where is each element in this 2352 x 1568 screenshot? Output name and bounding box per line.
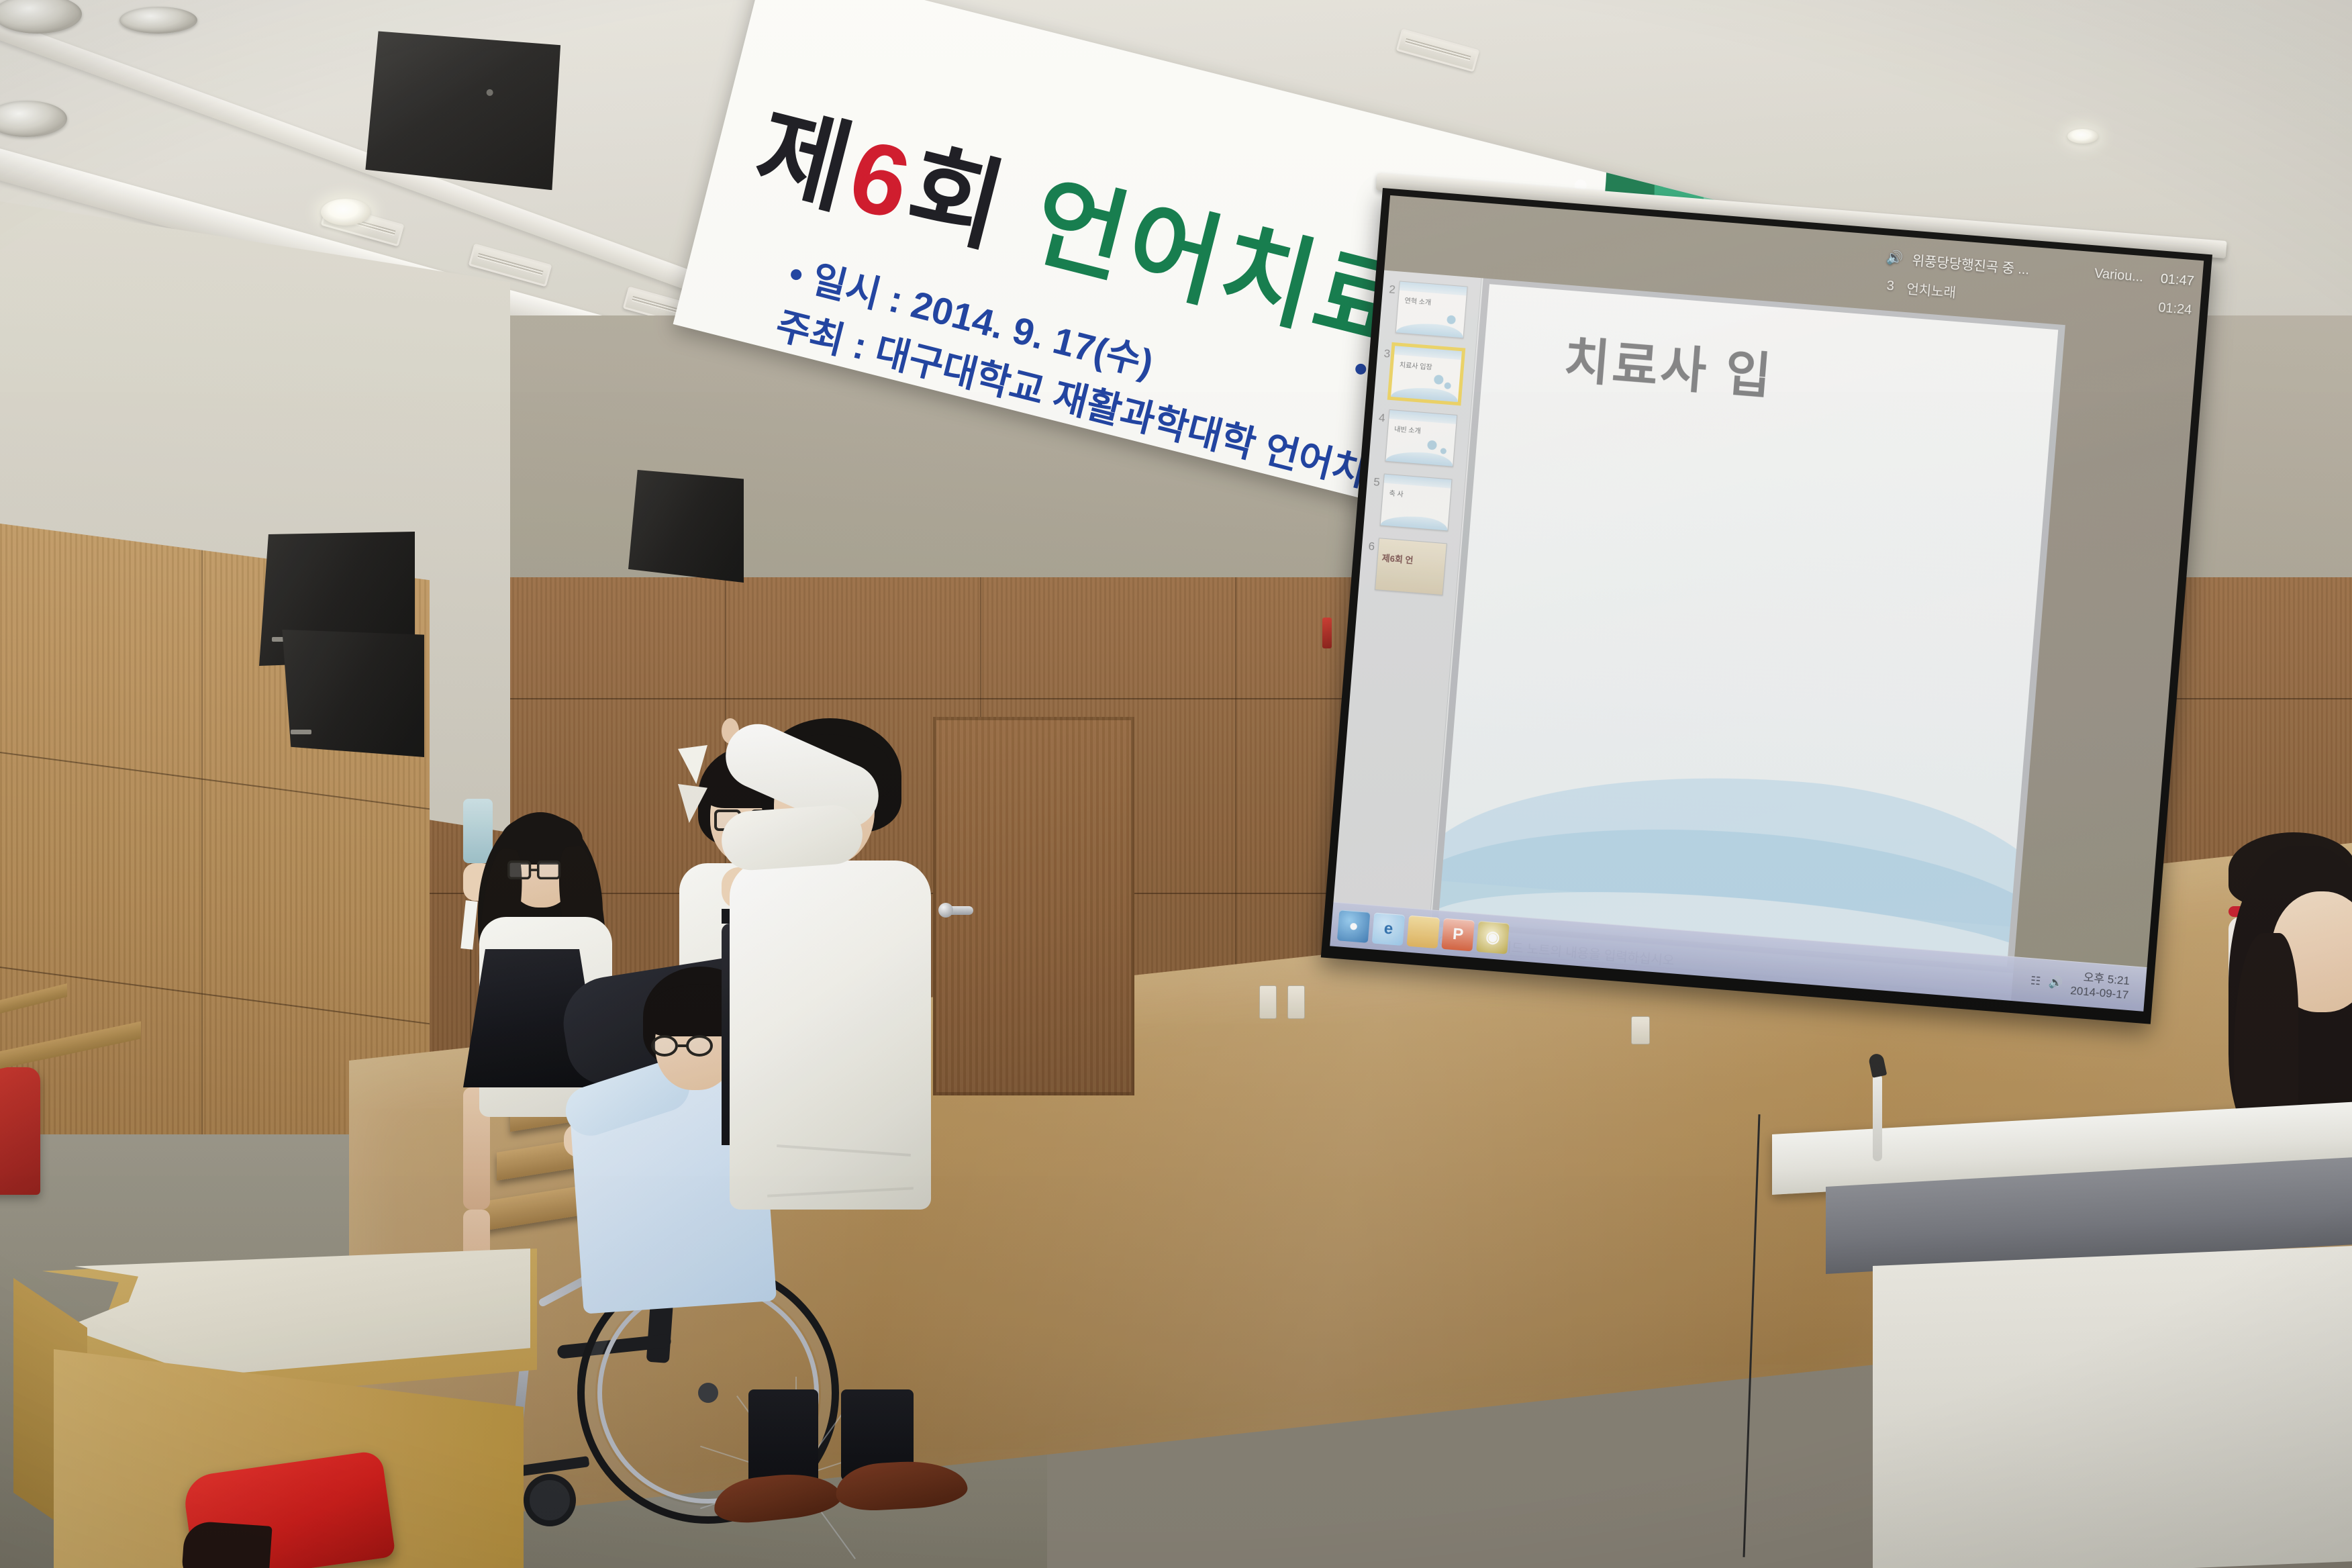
- player-elapsed: 01:24: [2150, 299, 2193, 318]
- person-man-pushing-wheelchair: [722, 718, 943, 1510]
- slide-thumbnail-item[interactable]: 6 제6회 언: [1363, 537, 1455, 596]
- slide-number: 6: [1365, 537, 1379, 554]
- volume-icon: 🔊: [1885, 249, 1904, 267]
- view-mode-icon[interactable]: [1948, 995, 1962, 1007]
- slide-thumb-title: 제6회 언: [1381, 551, 1414, 567]
- slide-title-text: 치료사 입: [1562, 320, 1777, 409]
- slide-number: 3: [1381, 344, 1394, 361]
- stage-door[interactable]: [933, 717, 1134, 1095]
- slide-thumbnail-item[interactable]: 3 치료사 입장: [1378, 344, 1470, 403]
- wall-speaker-lower: [279, 630, 424, 757]
- wall-speaker-right: [628, 470, 744, 583]
- door-handle-icon[interactable]: [944, 906, 973, 915]
- podium-microphone: [1873, 1074, 1882, 1161]
- screen-surface: 🔊 위풍당당행진곡 중 ... Variou... 01:47 3 언치노래 0…: [1330, 195, 2204, 1012]
- current-slide[interactable]: 치료사 입: [1438, 284, 2059, 967]
- wall-outlet: [1287, 985, 1305, 1019]
- powerpoint-icon[interactable]: P: [1441, 918, 1475, 951]
- player-next-index: 3: [1886, 279, 1898, 295]
- slide-number: 5: [1371, 473, 1384, 489]
- network-icon[interactable]: ☷: [2030, 974, 2041, 988]
- fire-alarm-icon: [1322, 618, 1332, 648]
- internet-explorer-icon[interactable]: e: [1372, 912, 1406, 946]
- slide-number: 4: [1376, 408, 1389, 425]
- slide-thumbnail-item[interactable]: 4 내빈 소개: [1373, 408, 1465, 467]
- screen-frame: 🔊 위풍당당행진곡 중 ... Variou... 01:47 3 언치노래 0…: [1321, 188, 2212, 1024]
- slide-thumbnail-selected[interactable]: 치료사 입장: [1390, 345, 1463, 403]
- player-duration: 01:47: [2152, 271, 2195, 289]
- slide-editor-area[interactable]: 치료사 입: [1431, 278, 2065, 973]
- volume-icon[interactable]: 🔊: [2048, 975, 2063, 990]
- speaker-podium: [1772, 1134, 2352, 1568]
- taskbar-clock[interactable]: 오후 5:21 2014-09-17: [2070, 970, 2130, 1002]
- slide-thumbnail-item[interactable]: 5 축 사: [1368, 473, 1460, 532]
- media-player-icon[interactable]: ◉: [1476, 920, 1510, 954]
- system-tray[interactable]: ☷ 🔊 오후 5:21 2014-09-17: [2029, 967, 2139, 1003]
- slide-thumbnail[interactable]: 축 사: [1380, 474, 1453, 532]
- slide-thumb-title: 내빈 소개: [1394, 426, 1452, 439]
- start-icon[interactable]: ●: [1337, 910, 1371, 943]
- folder-icon[interactable]: [1407, 915, 1440, 948]
- held-paper: [460, 900, 477, 949]
- downlight-icon: [119, 7, 197, 34]
- slide-thumb-title: 치료사 입장: [1399, 361, 1457, 375]
- powerpoint-window[interactable]: 2 연혁 소개 3 치료사 입장: [1330, 270, 2065, 1011]
- auditorium-photo: 제6회 언어치료사 선서식 • 장소 : 재활과학대학 강당 • 일시 : 20…: [0, 0, 2352, 1568]
- slide-thumb-title: 연혁 소개: [1404, 297, 1462, 310]
- slide-thumbnail-item[interactable]: 2 연혁 소개: [1383, 280, 1475, 339]
- projection-screen: 🔊 위풍당당행진곡 중 ... Variou... 01:47 3 언치노래 0…: [1316, 188, 2212, 1084]
- slide-thumb-title: 축 사: [1389, 489, 1447, 503]
- downlight-icon: [321, 199, 371, 226]
- slide-number: 2: [1386, 280, 1400, 297]
- audience-seat: [0, 1067, 40, 1195]
- slide-thumbnail[interactable]: 제6회 언: [1375, 538, 1447, 595]
- player-track-title: 위풍당당행진곡 중 ...: [1912, 250, 2086, 283]
- downlight-icon: [2067, 129, 2098, 144]
- player-artist: Variou...: [2094, 266, 2144, 285]
- wall-outlet: [1259, 985, 1277, 1019]
- slide-thumbnail[interactable]: 내빈 소개: [1385, 409, 1457, 467]
- slide-thumbnail[interactable]: 연혁 소개: [1395, 281, 1468, 338]
